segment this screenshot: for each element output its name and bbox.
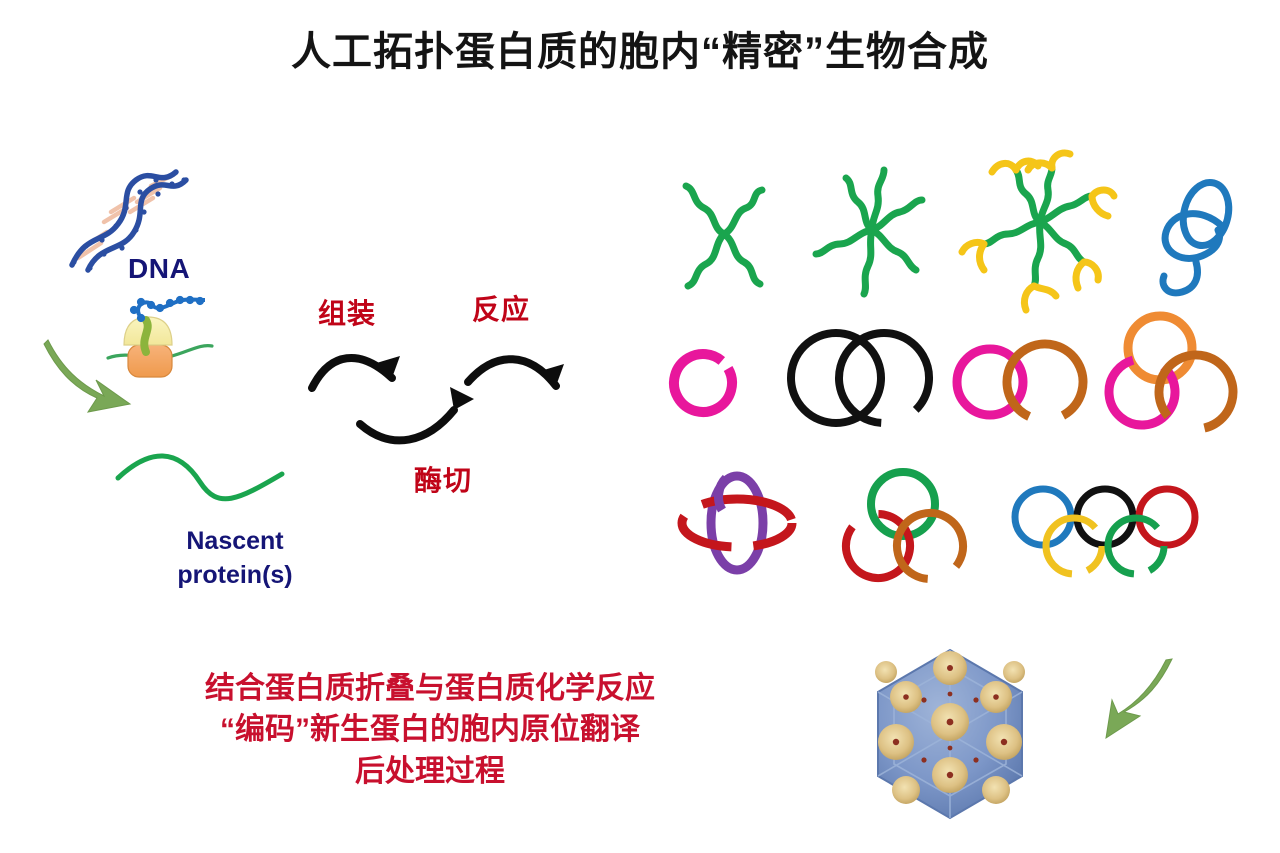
- diagram-canvas: 人工拓扑蛋白质的胞内“精密”生物合成: [0, 0, 1280, 853]
- page-title: 人工拓扑蛋白质的胞内“精密”生物合成: [0, 28, 1280, 76]
- three-catenane-magenta-brown-orange-icon: [1096, 316, 1247, 443]
- capsomer-cluster-group: [875, 651, 1025, 804]
- dendrimer-star-polymer-icon: [962, 153, 1114, 310]
- six-arm-star-polymer-icon: [816, 170, 922, 294]
- reaction-label: 反应: [472, 288, 530, 328]
- caption-line-2: “编码”新生蛋白的胞内原位翻译: [95, 709, 765, 750]
- assembly-label: 组装: [318, 292, 376, 332]
- process-arrows: [312, 358, 556, 440]
- nascent-protein-label: Nascent protein(s): [130, 525, 340, 593]
- trefoil-knot-protein-icon: [1163, 178, 1235, 293]
- three-ring-borromean-icon: [837, 472, 975, 591]
- green-arrow-down-left-icon: [1106, 659, 1172, 738]
- arrow-cleavage-icon: [360, 410, 454, 440]
- nascent-protein-line-2: protein(s): [177, 561, 292, 589]
- olympic-five-rings-catenane-icon: [1015, 489, 1195, 574]
- nascent-protein-line-1: Nascent: [186, 527, 283, 555]
- caption-line-3: 后处理过程: [95, 751, 765, 792]
- cleavage-label: 酶切: [414, 459, 472, 499]
- ribosome-icon: [108, 296, 212, 377]
- nascent-protein-chain-icon: [118, 456, 282, 499]
- caption-line-1: 结合蛋白质折叠与蛋白质化学反应: [95, 668, 765, 709]
- process-arrow-heads: [373, 356, 564, 410]
- hopf-link-oval-knot-icon: [682, 476, 792, 570]
- arrow-reaction-icon: [468, 359, 556, 386]
- virus-capsid-icon: [875, 650, 1025, 818]
- two-catenane-black-icon: [791, 317, 945, 440]
- bottom-caption: 结合蛋白质折叠与蛋白质化学反应 “编码”新生蛋白的胞内原位翻译 后处理过程: [95, 668, 765, 792]
- two-catenane-magenta-brown-icon: [957, 330, 1097, 434]
- four-arm-star-polymer-icon: [686, 186, 762, 286]
- dna-label: DNA: [128, 253, 190, 285]
- single-macrocycle-ring-icon: [663, 343, 742, 422]
- green-arrow-down-right-icon: [44, 340, 130, 412]
- arrow-assembly-icon: [312, 358, 392, 388]
